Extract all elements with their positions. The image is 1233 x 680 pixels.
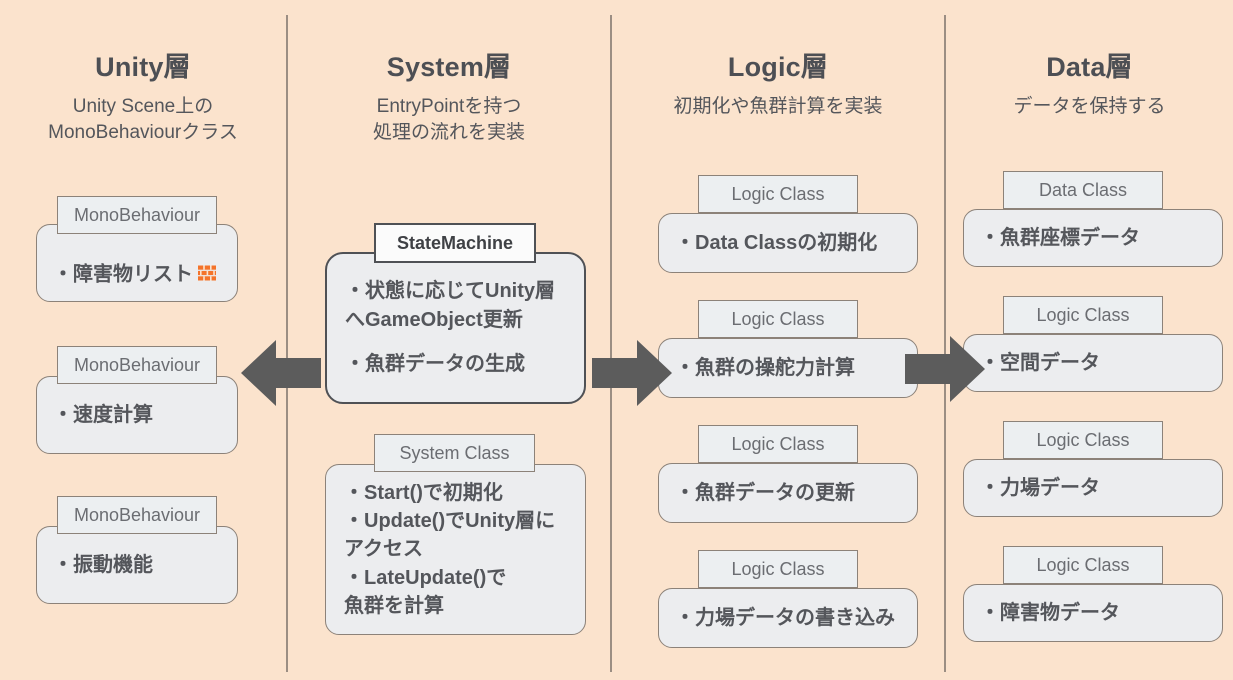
card-tab: Logic Class xyxy=(1003,296,1163,334)
column-title-data: Data層 xyxy=(946,52,1233,83)
card-body: ・魚群座標データ xyxy=(963,209,1223,267)
column-header-system: System層 EntryPointを持つ 処理の流れを実装 xyxy=(288,52,610,146)
column-header-unity: Unity層 Unity Scene上の MonoBehaviourクラス xyxy=(0,52,286,146)
card-tab: Logic Class xyxy=(1003,546,1163,584)
card-tab: MonoBehaviour xyxy=(57,496,217,534)
card-line: ・魚群データの更新 xyxy=(675,479,903,507)
column-title-system: System層 xyxy=(288,52,610,83)
card-tab: System Class xyxy=(374,434,535,472)
card-line: ・魚群座標データ xyxy=(980,224,1208,252)
arrow-system-to-unity xyxy=(241,338,321,408)
card-body: ・障害物データ xyxy=(963,584,1223,642)
card-tab: Logic Class xyxy=(698,425,858,463)
card-line: ・魚群の操舵力計算 xyxy=(675,354,903,382)
architecture-diagram: Unity層 Unity Scene上の MonoBehaviourクラス Mo… xyxy=(0,0,1233,680)
card-line: ・振動機能 xyxy=(53,551,223,579)
card-tab: Data Class xyxy=(1003,171,1163,209)
card-line: ・Start()で初期化 ・Update()でUnity層に アクセス ・Lat… xyxy=(344,479,571,621)
card-tab: MonoBehaviour xyxy=(57,196,217,234)
column-subtitle-data: データを保持する xyxy=(946,94,1233,120)
brick-wall-icon xyxy=(197,235,217,292)
card-line: ・障害物データ xyxy=(980,599,1208,627)
card-line: ・Data Classの初期化 xyxy=(675,229,903,257)
card-line: ・空間データ xyxy=(980,349,1208,377)
card-body: ・Start()で初期化 ・Update()でUnity層に アクセス ・Lat… xyxy=(325,464,586,635)
column-subtitle-logic: 初期化や魚群計算を実装 xyxy=(612,94,944,120)
card-tab: Logic Class xyxy=(698,550,858,588)
column-subtitle-unity: Unity Scene上の MonoBehaviourクラス xyxy=(0,94,286,146)
column-header-data: Data層 データを保持する xyxy=(946,52,1233,120)
card-body: ・振動機能 xyxy=(36,526,238,604)
column-title-logic: Logic層 xyxy=(612,52,944,83)
card-tab: Logic Class xyxy=(698,300,858,338)
column-subtitle-system: EntryPointを持つ 処理の流れを実装 xyxy=(288,94,610,146)
card-line: ・力場データ xyxy=(980,474,1208,502)
card-body: ・状態に応じてUnity層 へGameObject更新 ・魚群データの生成 xyxy=(325,252,586,404)
card-body: ・障害物リスト xyxy=(36,224,238,302)
arrow-logic-to-data xyxy=(905,334,985,404)
card-tab: Logic Class xyxy=(1003,421,1163,459)
card-tab: StateMachine xyxy=(374,223,536,263)
card-body: ・Data Classの初期化 xyxy=(658,213,918,273)
card-line: ・障害物リスト xyxy=(53,235,223,292)
card-body: ・速度計算 xyxy=(36,376,238,454)
card-body: ・力場データ xyxy=(963,459,1223,517)
column-header-logic: Logic層 初期化や魚群計算を実装 xyxy=(612,52,944,120)
card-line: ・速度計算 xyxy=(53,401,223,429)
card-body: ・魚群データの更新 xyxy=(658,463,918,523)
card-tab: MonoBehaviour xyxy=(57,346,217,384)
card-body: ・魚群の操舵力計算 xyxy=(658,338,918,398)
card-line: ・魚群データの生成 xyxy=(345,350,570,378)
card-line: ・状態に応じてUnity層 へGameObject更新 xyxy=(345,277,570,334)
card-body: ・空間データ xyxy=(963,334,1223,392)
card-tab: Logic Class xyxy=(698,175,858,213)
card-line: ・力場データの書き込み xyxy=(675,604,903,632)
column-title-unity: Unity層 xyxy=(0,52,286,83)
arrow-system-to-logic xyxy=(592,338,672,408)
card-body: ・力場データの書き込み xyxy=(658,588,918,648)
